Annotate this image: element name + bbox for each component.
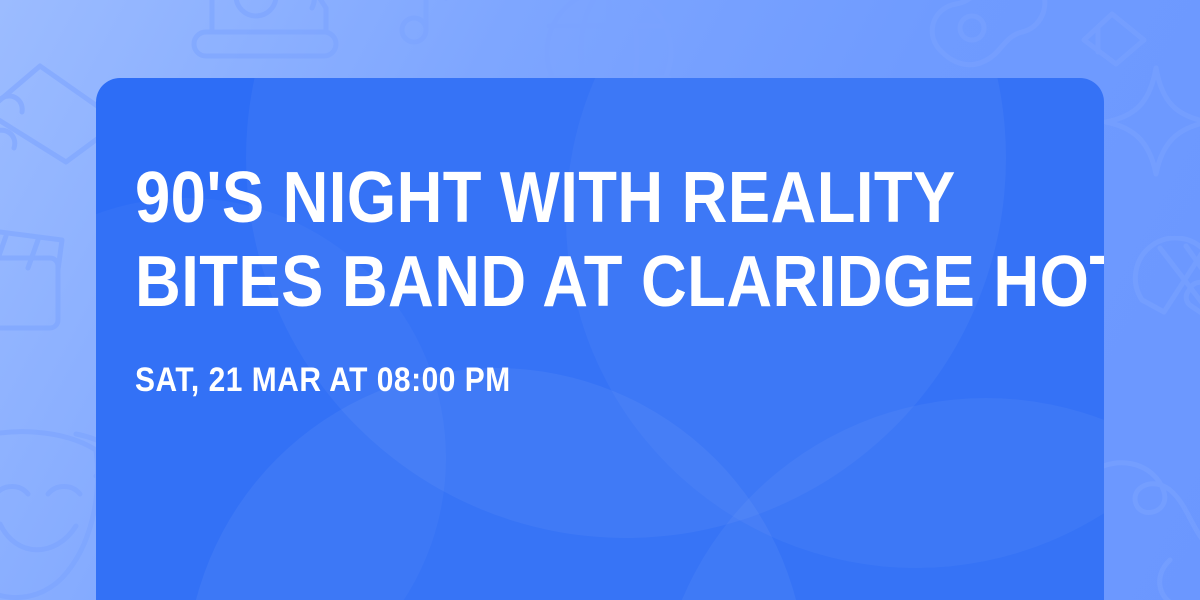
music-note-icon bbox=[396, 0, 456, 54]
microphone-icon bbox=[1124, 236, 1200, 386]
event-date-time: SAT, 21 MAR AT 08:00 PM bbox=[135, 360, 953, 400]
turntable-icon bbox=[184, 0, 354, 78]
sparkle-icon bbox=[1104, 60, 1200, 180]
card-blob-decor bbox=[656, 398, 1104, 600]
event-title-line-1: 90'S NIGHT WITH REALITY bbox=[135, 156, 953, 240]
event-banner-canvas: 90'S NIGHT WITH REALITY BITES BAND AT CL… bbox=[0, 0, 1200, 600]
event-card: 90'S NIGHT WITH REALITY BITES BAND AT CL… bbox=[96, 78, 1104, 600]
event-title-line-2: BITES BAND AT CLARIDGE HOTEL bbox=[135, 240, 953, 324]
event-card-content: 90'S NIGHT WITH REALITY BITES BAND AT CL… bbox=[135, 156, 1064, 400]
card-blob-decor bbox=[186, 368, 806, 600]
tag-icon bbox=[1078, 4, 1158, 74]
film-clapper-icon bbox=[0, 214, 80, 344]
